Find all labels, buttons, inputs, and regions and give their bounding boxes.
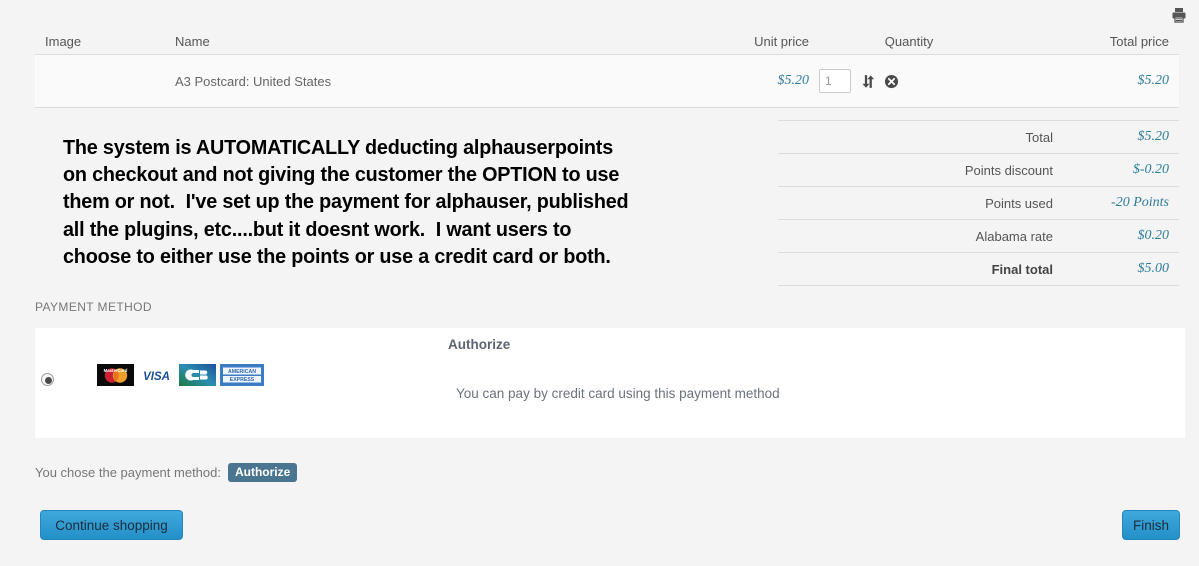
totals-row-final-total: Final total $5.00 bbox=[778, 253, 1179, 286]
mastercard-logo: MasterCard bbox=[97, 364, 134, 386]
totals-label: Alabama rate bbox=[778, 229, 1067, 244]
continue-shopping-button[interactable]: Continue shopping bbox=[40, 510, 183, 540]
svg-text:VISA: VISA bbox=[143, 371, 170, 383]
totals-value: $5.20 bbox=[1067, 129, 1179, 145]
cb-logo bbox=[179, 364, 216, 386]
svg-text:AMERICAN: AMERICAN bbox=[228, 369, 256, 375]
svg-text:EXPRESS: EXPRESS bbox=[230, 377, 255, 383]
chosen-label: You chose the payment method: bbox=[35, 465, 221, 480]
payment-method-heading: PAYMENT METHOD bbox=[35, 300, 152, 314]
column-header-image: Image bbox=[35, 34, 175, 54]
amex-logo: AMERICAN EXPRESS bbox=[220, 364, 264, 386]
quantity-cell bbox=[809, 69, 1009, 93]
accepted-cards: MasterCard VISA bbox=[97, 364, 264, 386]
print-icon[interactable] bbox=[1170, 6, 1188, 24]
totals-row-points-discount: Points discount $-0.20 bbox=[778, 154, 1179, 187]
annotation-text: The system is AUTOMATICALLY deducting al… bbox=[63, 134, 739, 270]
payment-method-name: Authorize bbox=[448, 337, 1148, 352]
totals-value: $-0.20 bbox=[1067, 162, 1179, 178]
totals-table: Total $5.20 Points discount $-0.20 Point… bbox=[778, 120, 1179, 286]
svg-text:MasterCard: MasterCard bbox=[104, 368, 128, 373]
quantity-input[interactable] bbox=[819, 69, 851, 93]
product-image-cell bbox=[35, 55, 175, 107]
column-header-name: Name bbox=[175, 34, 689, 54]
chosen-payment-method: You chose the payment method: Authorize bbox=[35, 463, 297, 482]
totals-row-alabama-rate: Alabama rate $0.20 bbox=[778, 220, 1179, 253]
payment-method-description: You can pay by credit card using this pa… bbox=[456, 386, 1156, 401]
finish-button[interactable]: Finish bbox=[1122, 510, 1180, 540]
status-badge: Authorize bbox=[228, 463, 297, 482]
product-unit-price: $5.20 bbox=[689, 73, 809, 89]
totals-label: Final total bbox=[778, 262, 1067, 277]
update-icon[interactable] bbox=[860, 74, 875, 89]
column-header-quantity: Quantity bbox=[809, 34, 1009, 54]
column-header-total-price: Total price bbox=[1009, 34, 1179, 54]
totals-value: -20 Points bbox=[1067, 195, 1179, 211]
cart-table: Image Name Unit price Quantity Total pri… bbox=[35, 27, 1179, 108]
checkout-page: Image Name Unit price Quantity Total pri… bbox=[0, 0, 1199, 566]
product-name: A3 Postcard: United States bbox=[175, 74, 689, 89]
cart-table-header: Image Name Unit price Quantity Total pri… bbox=[35, 27, 1179, 55]
payment-method-radio[interactable] bbox=[41, 373, 54, 386]
totals-value: $0.20 bbox=[1067, 228, 1179, 244]
column-header-unit-price: Unit price bbox=[689, 34, 809, 54]
totals-label: Points discount bbox=[778, 163, 1067, 178]
table-row: A3 Postcard: United States $5.20 bbox=[35, 55, 1179, 108]
totals-row-points-used: Points used -20 Points bbox=[778, 187, 1179, 220]
product-total-price: $5.20 bbox=[1009, 73, 1179, 89]
totals-value: $5.00 bbox=[1067, 261, 1179, 277]
visa-logo: VISA bbox=[138, 364, 175, 386]
totals-label: Points used bbox=[778, 196, 1067, 211]
totals-row-total: Total $5.20 bbox=[778, 121, 1179, 154]
totals-label: Total bbox=[778, 130, 1067, 145]
delete-icon[interactable] bbox=[884, 74, 899, 89]
